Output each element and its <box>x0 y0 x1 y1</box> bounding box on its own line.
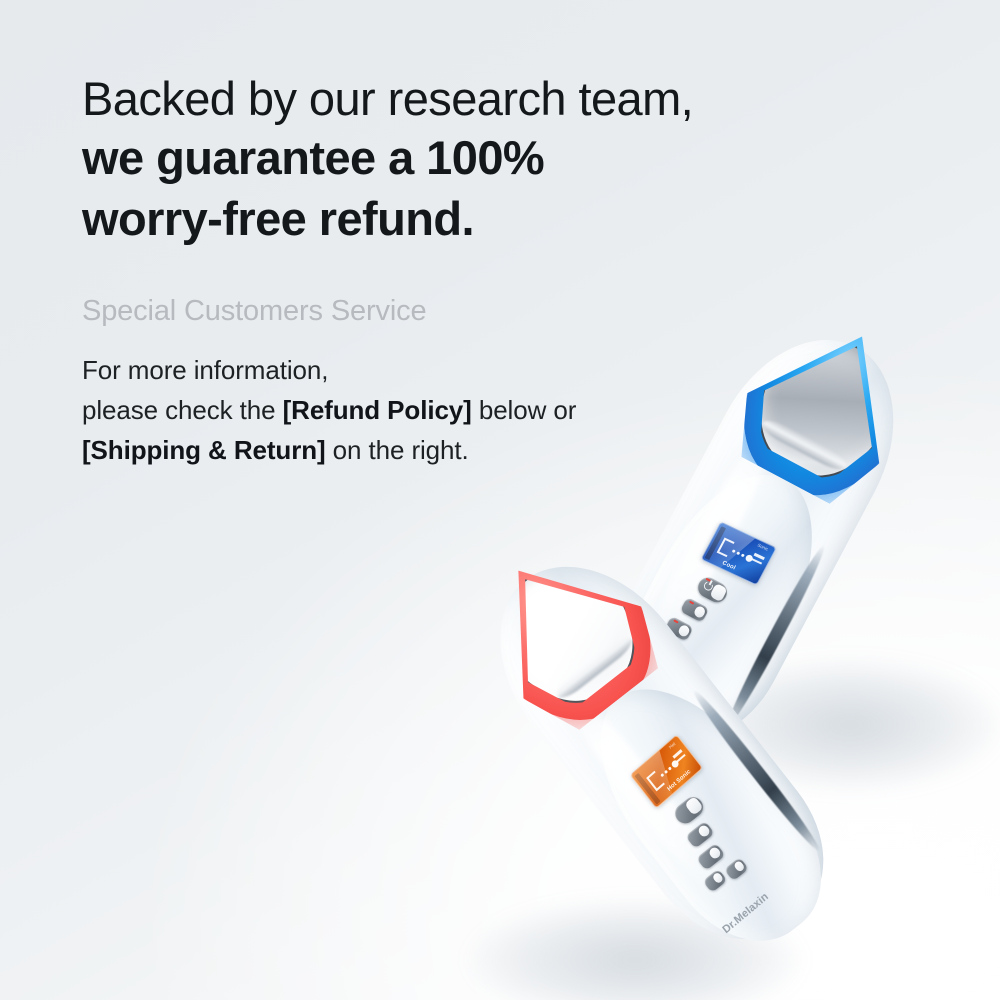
button-highlight <box>733 860 746 873</box>
body-line-2: please check the [Refund Policy] below o… <box>82 390 782 430</box>
headline-line-1: Backed by our research team, <box>82 72 782 127</box>
level-led-indicator <box>674 619 679 623</box>
button-highlight <box>711 872 724 885</box>
body-text: For more information, please check the [… <box>82 350 782 471</box>
level-dot <box>668 766 672 770</box>
shipping-return-link[interactable]: [Shipping & Return] <box>82 435 326 465</box>
body-line-1: For more information, <box>82 350 782 390</box>
banner-copy: Backed by our research team, we guarante… <box>82 72 782 471</box>
level-dot <box>741 553 745 557</box>
button-highlight <box>707 846 722 861</box>
refund-policy-link[interactable]: [Refund Policy] <box>283 395 472 425</box>
red-mode-button[interactable] <box>685 821 715 849</box>
mode-led-indicator <box>689 600 694 604</box>
body-line-3-post: on the right. <box>326 435 469 465</box>
body-line-2-pre: please check the <box>82 395 283 425</box>
headline-line-2: we guarantee a 100% <box>82 127 782 188</box>
headline-line-3: worry-free refund. <box>82 188 782 249</box>
blue-mode-button[interactable] <box>680 597 710 623</box>
button-highlight <box>696 824 711 839</box>
red-level-button[interactable] <box>696 843 726 871</box>
subheading: Special Customers Service <box>82 295 782 328</box>
red-lcd-corner-label: Hot <box>668 741 676 750</box>
body-line-2-post: below or <box>472 395 577 425</box>
blue-lcd-corner-label: Sonic <box>757 543 770 552</box>
button-highlight <box>677 623 691 638</box>
button-highlight <box>685 796 704 816</box>
body-line-3: [Shipping & Return] on the right. <box>82 430 782 470</box>
button-highlight <box>692 605 706 620</box>
red-extra-button-2[interactable] <box>724 857 749 881</box>
refund-guarantee-banner: Backed by our research team, we guarante… <box>0 0 1000 1000</box>
